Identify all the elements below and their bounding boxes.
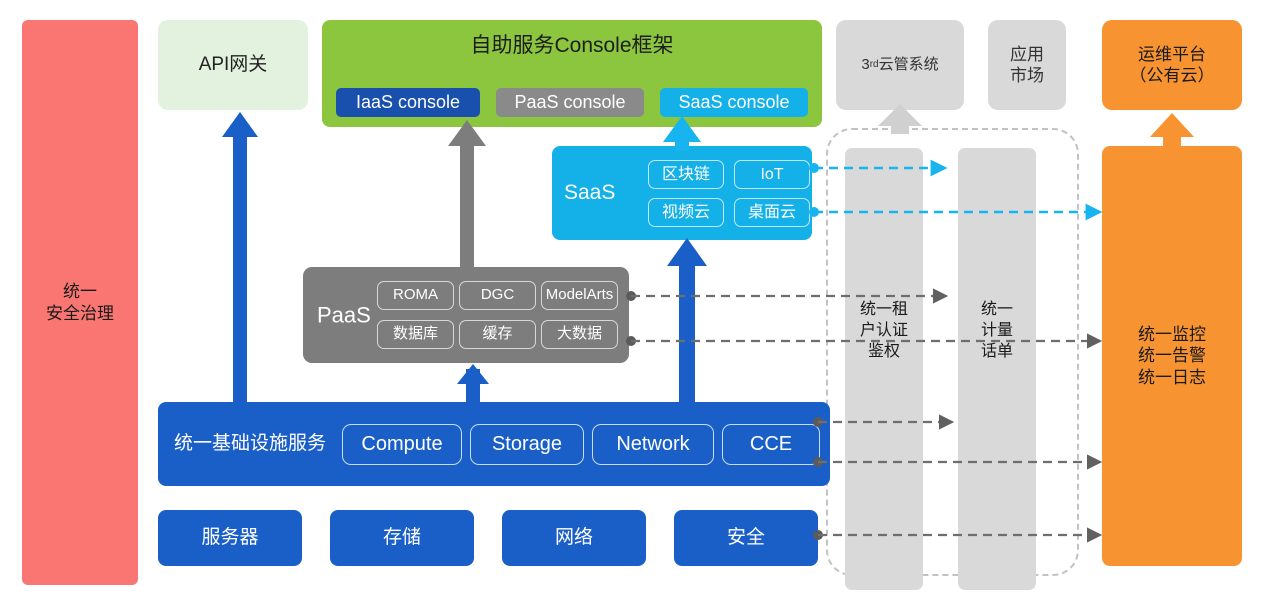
paas-block[interactable]: PaaS ROMA DGC ModelArts 数据库 缓存 大数据 (303, 267, 629, 363)
resource-box-server[interactable]: 服务器 (158, 510, 302, 566)
resource-box-network[interactable]: 网络 (502, 510, 646, 566)
arrow-infra-to-paas (457, 364, 489, 402)
arrow-infra-to-api-gateway (222, 112, 258, 402)
paas-chip-dgc[interactable]: DGC (459, 281, 536, 310)
paas-chip-database[interactable]: 数据库 (377, 320, 454, 349)
arrow-ops-column-to-platform (1150, 113, 1194, 148)
unified-infrastructure-bar[interactable]: 统一基础设施服务 Compute Storage Network CCE (158, 402, 830, 486)
paas-chip-cache[interactable]: 缓存 (459, 320, 536, 349)
resource-box-storage[interactable]: 存储 (330, 510, 474, 566)
api-gateway-box[interactable]: API网关 (158, 20, 308, 110)
saas-chip-blockchain[interactable]: 区块链 (648, 160, 724, 189)
saas-block[interactable]: SaaS 区块链 IoT 视频云 桌面云 (552, 146, 812, 240)
saas-label: SaaS (564, 180, 615, 206)
unified-metering-column[interactable]: 统一 计量 话单 (958, 148, 1036, 590)
security-governance-pillar[interactable]: 统一 安全治理 (22, 20, 138, 585)
saas-chip-desktop-cloud[interactable]: 桌面云 (734, 198, 810, 227)
unified-tenant-auth-column[interactable]: 统一租 户认证 鉴权 (845, 148, 923, 590)
console-framework-box[interactable]: 自助服务Console框架 IaaS console PaaS console … (322, 20, 822, 127)
infrastructure-label: 统一基础设施服务 (174, 432, 326, 456)
paas-chip-roma[interactable]: ROMA (377, 281, 454, 310)
console-framework-title: 自助服务Console框架 (322, 33, 822, 59)
infra-chip-network[interactable]: Network (592, 424, 714, 465)
third-cloud-prefix: 3 (861, 56, 869, 75)
third-cloud-rest: 云管系统 (879, 56, 939, 75)
third-party-cloud-mgmt-box[interactable]: 3rd云管系统 (836, 20, 964, 110)
paas-console-chip[interactable]: PaaS console (496, 88, 644, 117)
unified-tenant-auth-label: 统一租 户认证 鉴权 (845, 300, 923, 362)
paas-chip-modelarts[interactable]: ModelArts (541, 281, 618, 310)
saas-chip-iot[interactable]: IoT (734, 160, 810, 189)
architecture-diagram: 统一 安全治理 API网关 自助服务Console框架 IaaS console… (0, 0, 1265, 605)
unified-metering-label: 统一 计量 话单 (958, 300, 1036, 362)
arrow-paas-to-console (448, 120, 486, 267)
saas-console-chip[interactable]: SaaS console (660, 88, 808, 117)
infra-chip-cce[interactable]: CCE (722, 424, 820, 465)
iaas-console-chip[interactable]: IaaS console (336, 88, 480, 117)
paas-chip-bigdata[interactable]: 大数据 (541, 320, 618, 349)
infra-chip-compute[interactable]: Compute (342, 424, 462, 465)
unified-monitoring-column[interactable]: 统一监控 统一告警 统一日志 (1102, 146, 1242, 566)
third-cloud-superscript: rd (870, 59, 879, 72)
saas-chip-video-cloud[interactable]: 视频云 (648, 198, 724, 227)
arrow-infra-to-saas (667, 238, 707, 402)
ops-platform-box[interactable]: 运维平台 （公有云） (1102, 20, 1242, 110)
infra-chip-storage[interactable]: Storage (470, 424, 584, 465)
paas-label: PaaS (317, 301, 371, 329)
resource-box-security[interactable]: 安全 (674, 510, 818, 566)
app-market-box[interactable]: 应用 市场 (988, 20, 1066, 110)
